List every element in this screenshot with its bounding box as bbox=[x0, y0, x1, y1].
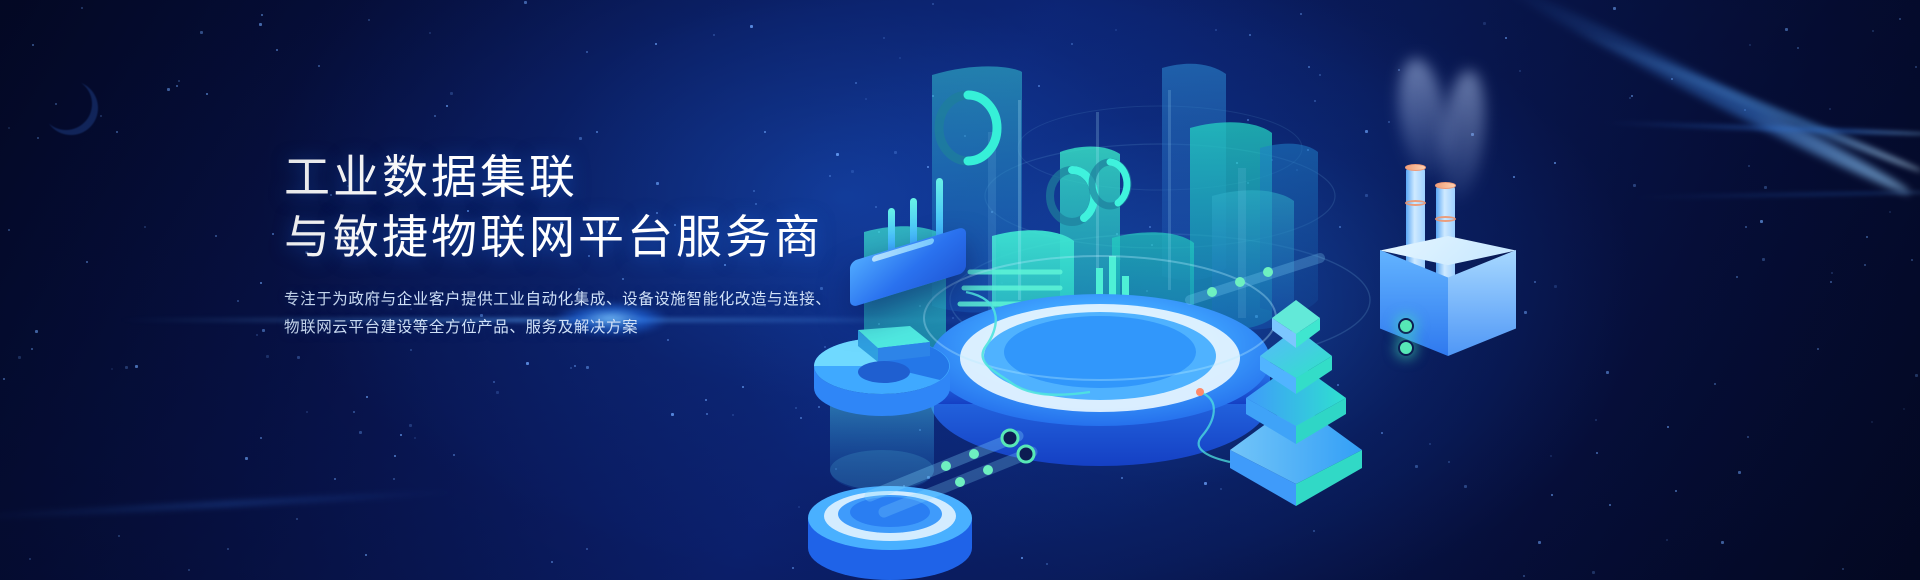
background-vignette bbox=[0, 0, 1920, 580]
hero-banner: 工业数据集联 与敏捷物联网平台服务商 专注于为政府与企业客户提供工业自动化集成、… bbox=[0, 0, 1920, 580]
